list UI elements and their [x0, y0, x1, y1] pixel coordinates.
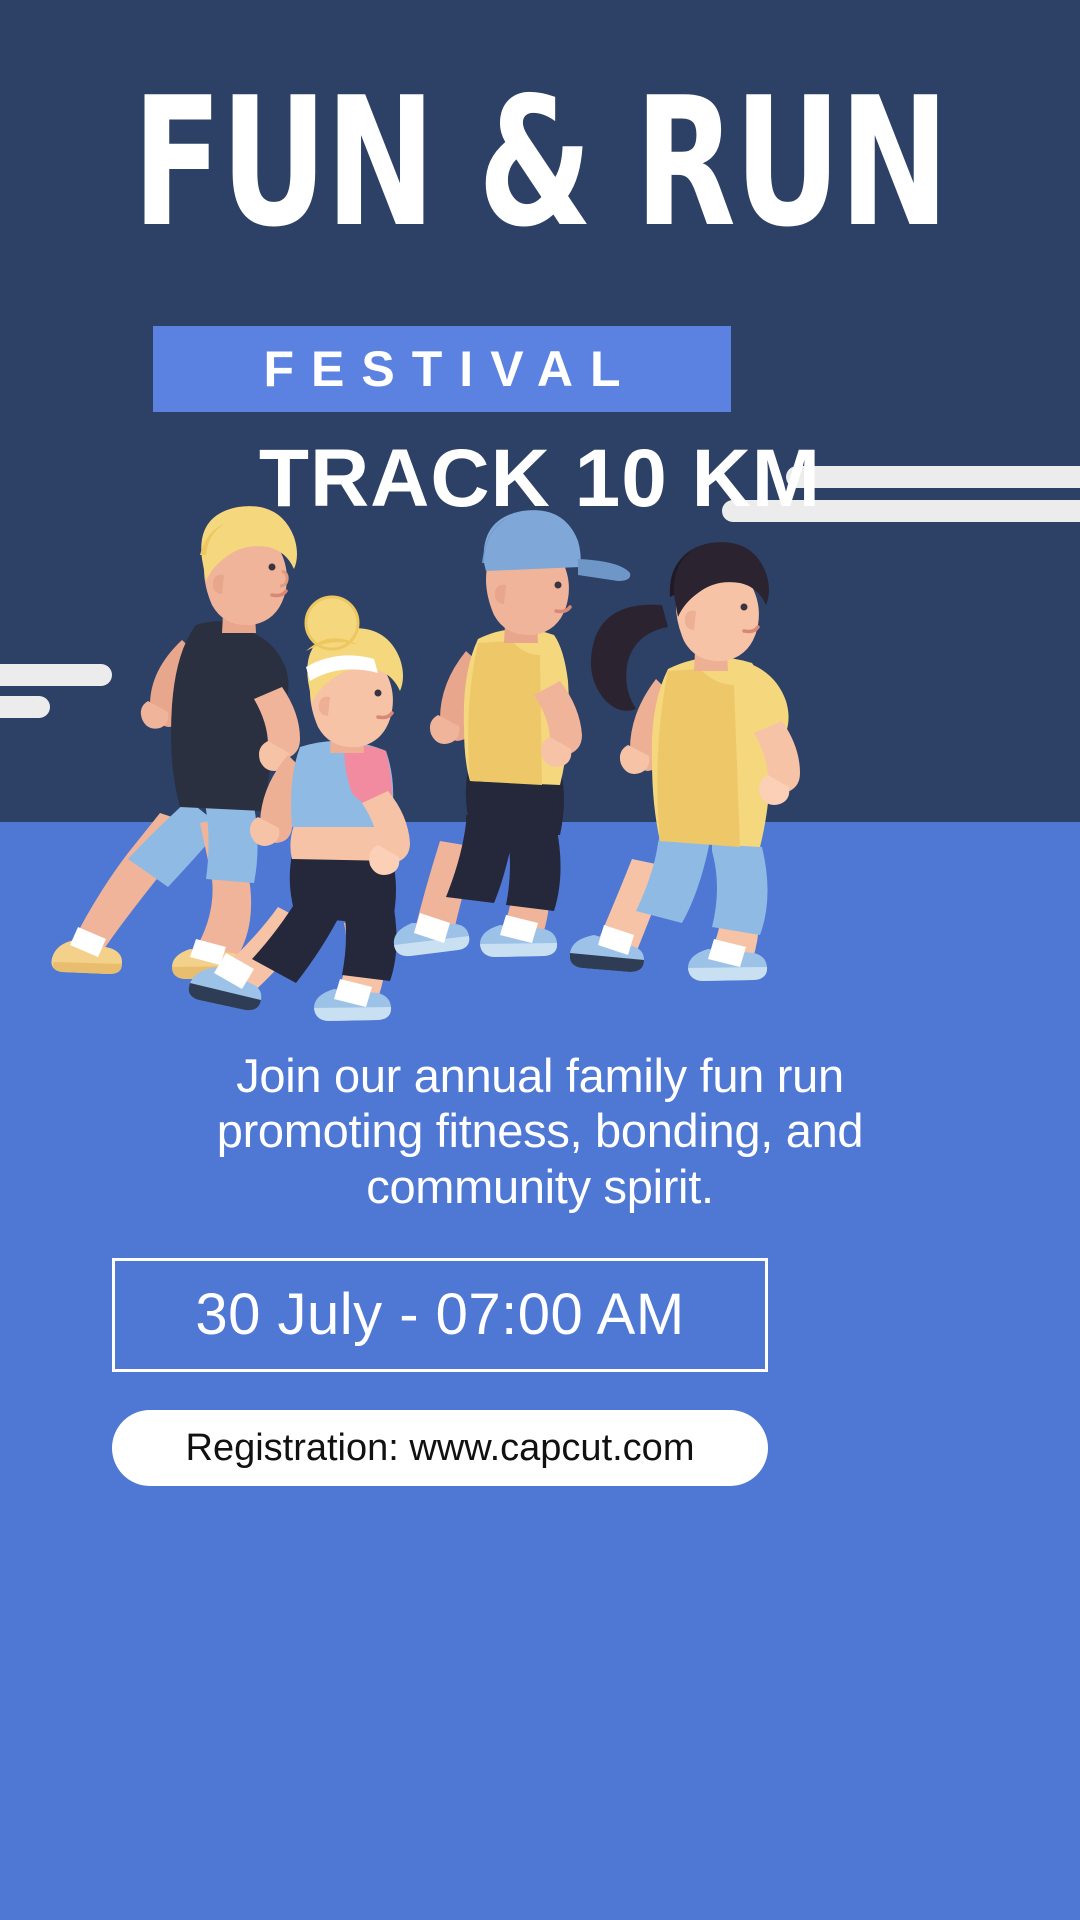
festival-label: FESTIVAL [247, 344, 638, 394]
description-line-3: community spirit. [90, 1159, 990, 1214]
poster-canvas: FUN & RUN FESTIVAL TRACK 10 KM Join our … [0, 0, 1080, 1920]
runner-3 [394, 510, 630, 957]
registration-button[interactable]: Registration: www.capcut.com [112, 1410, 768, 1486]
description-text: Join our annual family fun run promoting… [90, 1048, 990, 1214]
festival-banner: FESTIVAL [153, 326, 731, 412]
description-line-2: promoting fitness, bonding, and [90, 1103, 990, 1158]
event-date-time: 30 July - 07:00 AM [195, 1286, 684, 1344]
event-date-box: 30 July - 07:00 AM [112, 1258, 768, 1372]
four-runners-illustration [0, 455, 1080, 1105]
registration-label: Registration: www.capcut.com [186, 1429, 695, 1467]
runner-1 [51, 506, 300, 979]
page-title: FUN & RUN [97, 78, 983, 247]
runner-4 [570, 542, 800, 981]
description-line-1: Join our annual family fun run [90, 1048, 990, 1103]
track-distance-subtitle: TRACK 10 KM [0, 438, 1080, 520]
